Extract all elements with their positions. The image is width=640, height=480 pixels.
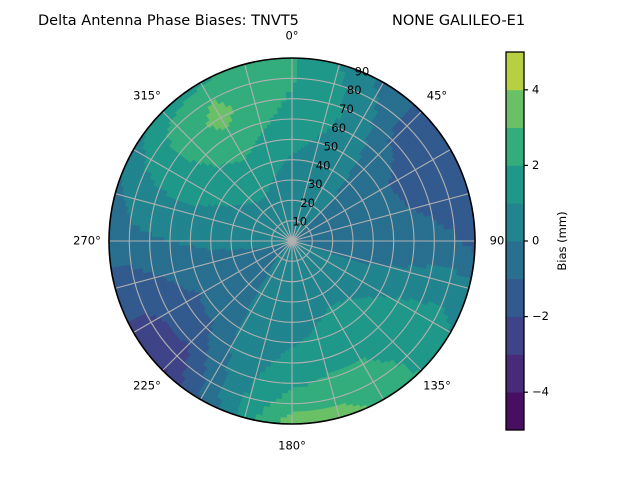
colorbar-band-0 [506,392,524,430]
colorbar-tick-label-2: 0 [532,234,539,248]
colorbar-band-1 [506,354,524,392]
azimuth-label-225: 225° [133,379,161,393]
azimuth-label-45: 45° [427,89,447,103]
colorbar-tick-label-1: −2 [532,309,549,323]
elevation-label-80: 80 [347,83,362,97]
elevation-label-60: 60 [331,121,346,135]
colorbar-band-8 [506,90,524,128]
azimuth-label-0: 0° [285,29,298,43]
colorbar-label: Bias (mm) [555,211,569,270]
azimuth-label-180: 180° [278,439,306,453]
colorbar-tick-label-4: 4 [532,82,539,96]
colorbar-band-3 [506,279,524,317]
elevation-label-30: 30 [308,177,323,191]
azimuth-label-315: 315° [133,89,161,103]
elevation-label-10: 10 [292,215,307,229]
elevation-label-70: 70 [339,102,354,116]
polar-grid-layer [109,58,475,424]
elevation-label-20: 20 [300,196,315,210]
colorbar-bands [506,52,524,430]
colorbar-band-6 [506,165,524,203]
colorbar-band-2 [506,317,524,355]
colorbar-band-9 [506,52,524,90]
colorbar-band-7 [506,128,524,166]
elevation-label-90: 90 [355,64,370,78]
figure-title-left: Delta Antenna Phase Biases: TNVT5 [38,13,299,29]
figure-title-right: NONE GALILEO-E1 [392,13,525,29]
colorbar-tick-label-3: 2 [532,158,539,172]
polar-axes: 0°45°90135°180°225°270°315° 102030405060… [73,29,504,453]
colorbar-tick-label-0: −4 [532,385,549,399]
polar-bias-figure: Delta Antenna Phase Biases: TNVT5 NONE G… [0,0,640,480]
azimuth-label-135: 135° [423,379,451,393]
elevation-label-40: 40 [316,158,331,172]
elevation-label-50: 50 [324,140,339,154]
colorbar-band-5 [506,203,524,241]
colorbar-band-4 [506,241,524,279]
azimuth-label-270: 270° [73,234,101,248]
azimuth-label-90: 90 [490,234,505,248]
